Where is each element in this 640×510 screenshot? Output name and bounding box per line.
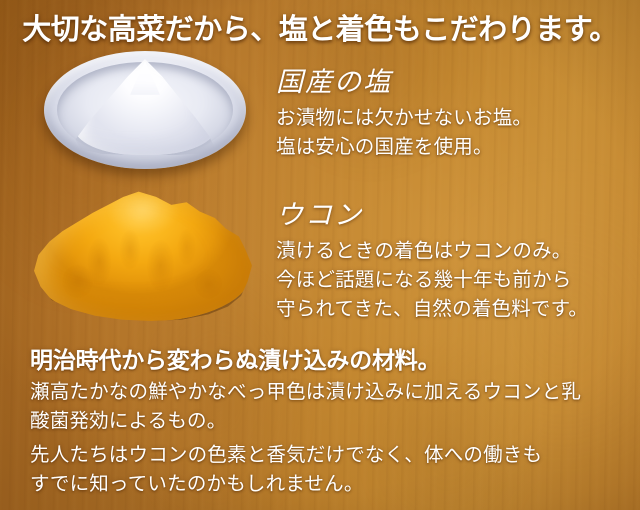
- banner-headline: 大切な高菜だから、塩と着色もこだわります。: [0, 6, 640, 48]
- footer-body-line-2: 酸菌発効によるもの。: [30, 404, 226, 433]
- footer-body-line-4: すでに知っていたのかもしれません。: [30, 467, 364, 496]
- turmeric-powder-mound-photo: [34, 189, 252, 321]
- salt-body-line-2: 塩は安心の国産を使用。: [276, 130, 493, 159]
- salt-bowl-shape: [44, 51, 246, 169]
- ingredient-promo-banner: 大切な高菜だから、塩と着色もこだわります。 国産の塩 お漬物には欠かせないお塩。…: [0, 0, 640, 510]
- turmeric-body-line-3: 守られてきた、自然の着色料です。: [276, 292, 588, 321]
- turmeric-mound-shape: [34, 189, 252, 321]
- turmeric-highlight: [108, 194, 178, 234]
- footer-body-line-1: 瀬高たかなの鮮やかなべっ甲色は漬け込みに加えるウコンと乳: [30, 375, 581, 404]
- salt-body-line-1: お漬物には欠かせないお塩。: [276, 101, 532, 130]
- footer-heading: 明治時代から変わらぬ漬け込みの材料。: [30, 341, 440, 375]
- turmeric-body-line-2: 今ほど話題になる幾十年も前から: [276, 263, 572, 292]
- section-heading-salt: 国産の塩: [276, 60, 392, 99]
- section-heading-turmeric: ウコン: [276, 193, 363, 232]
- turmeric-body-line-1: 漬けるときの着色はウコンのみ。: [276, 234, 572, 263]
- footer-body-line-3: 先人たちはウコンの色素と香気だけでなく、体への働きも: [30, 438, 542, 467]
- salt-in-white-bowl-photo: [44, 51, 246, 169]
